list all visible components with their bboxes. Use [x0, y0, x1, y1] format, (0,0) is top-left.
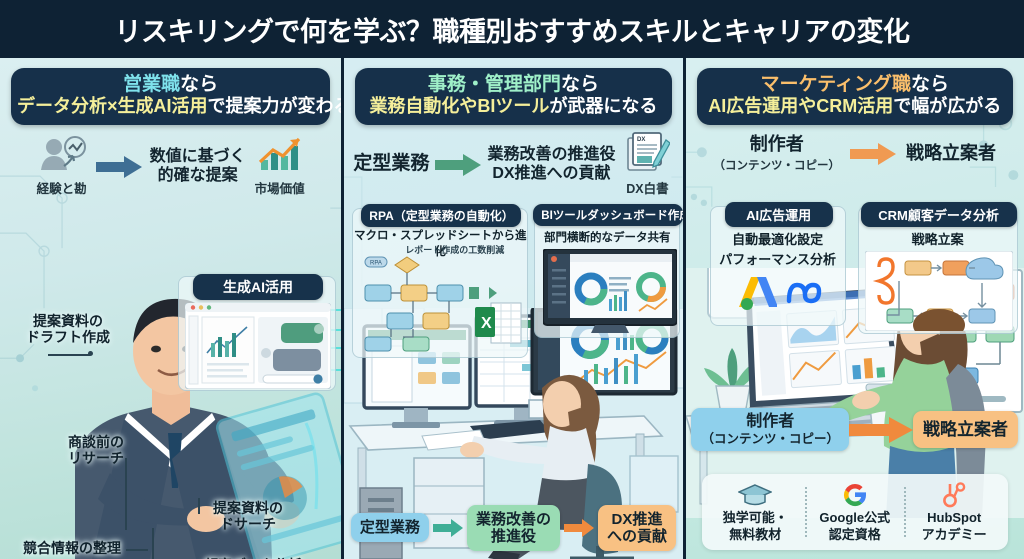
flow-row-marketing: 制作者 （コンテンツ・コピー） 戦略立案者: [686, 134, 1024, 173]
arrow-right-orange-wide-icon: [849, 417, 913, 443]
experience-intuition-group: 経験と勘: [36, 136, 88, 197]
card-ai-ads-sub2: パフォーマンス分析: [711, 249, 845, 268]
flow-row-admin: 定型業務 業務改善の推進役 DX推進への貢献 DX: [344, 132, 682, 197]
person-chart-icon: [37, 136, 87, 172]
panel-header-line1-accent: 事務・管理部門: [428, 74, 561, 95]
document-pen-icon: DX: [624, 132, 670, 172]
panel-marketing: マーケティング職なら AI広告運用やCRM活用で幅が広がる 制作者 （コンテンツ…: [683, 58, 1024, 559]
arrow-right-green-small-icon: [433, 519, 463, 537]
pill-strategy-planner: 戦略立案者: [913, 411, 1018, 449]
google-g-icon: [842, 482, 868, 508]
panel-header-line1: マーケティング職なら: [703, 74, 1007, 96]
crm-flow-icon: [865, 251, 1013, 331]
callout-proposal-material-line1: 提案資料の: [186, 501, 310, 517]
panel-header-marketing: マーケティング職なら AI広告運用やCRM活用で幅が広がる: [697, 68, 1013, 125]
market-value-group: 市場価値: [254, 136, 306, 197]
panels-container: 営業職なら データ分析×生成AI活用で提案力が変わる 経験と勘: [0, 58, 1024, 559]
pill-creator: 制作者 （コンテンツ・コピー）: [691, 408, 849, 451]
pill-dx-contribution-line2: への貢献: [607, 528, 667, 545]
panel-header-line1-rest: なら: [561, 74, 599, 95]
creator-line2: （コンテンツ・コピー）: [713, 157, 840, 173]
pill-improvement-driver-line2: 推進役: [476, 528, 551, 545]
panel-header-line1-rest: なら: [180, 74, 218, 95]
pill-routine-work: 定型業務: [351, 513, 429, 542]
arrow-right-blue-icon: [96, 156, 142, 178]
panel-header-line2: AI広告運用やCRM活用で幅が広がる: [703, 96, 1007, 118]
pill-improvement-driver: 業務改善の 推進役: [467, 505, 560, 552]
panel-header-line2: 業務自動化やBIツールが武器になる: [361, 96, 665, 118]
dx-whitepaper-group: DX DX白書: [621, 132, 673, 197]
routine-work-label: 定型業務: [353, 153, 429, 175]
graduation-cap-icon: [738, 483, 772, 507]
pill-flow-marketing: 制作者 （コンテンツ・コピー） 戦略立案者: [686, 408, 1024, 451]
callout-proposal-draft: 提案資料の ドラフト作成: [8, 314, 128, 345]
card-crm-sub1: 戦略立案: [859, 229, 1017, 248]
panel-header-sales: 営業職なら データ分析×生成AI活用で提案力が変わる: [11, 68, 330, 125]
panel-header-line1-rest: なら: [911, 74, 949, 95]
panel-header-admin: 事務・管理部門なら 業務自動化やBIツールが武器になる: [355, 68, 671, 125]
card-bi-dashboard-sub1: 部門横断的なデータ共有: [535, 229, 679, 245]
leader-line-customer-data-v: [152, 528, 154, 559]
panel-header-line1-accent: 営業職: [123, 74, 180, 95]
callout-proposal-material: 提案資料の ドサーチ: [186, 501, 310, 532]
creator-line1: 制作者: [713, 134, 840, 155]
svg-text:RPA: RPA: [370, 261, 382, 267]
arrow-right-orange-small-icon: [564, 519, 594, 537]
badge-self-study-line2: 無料教材: [706, 528, 805, 543]
svg-text:DX: DX: [637, 137, 645, 143]
meta-icon: [785, 279, 825, 307]
market-value-label: 市場価値: [254, 178, 306, 197]
page-title: リスキリングで何を学ぶ？職種別おすすめスキルとキャリアの変化: [115, 10, 910, 49]
badge-strip: 独学可能・ 無料教材 Google公式 認定資格: [702, 474, 1008, 550]
pill-flow-admin: 定型業務 業務改善の 推進役 DX推進 への貢献: [344, 505, 682, 552]
panel-header-line1: 営業職なら: [17, 74, 324, 96]
arrow-right-orange-icon: [850, 143, 896, 165]
badge-self-study-line1: 独学可能・: [706, 511, 805, 526]
leader-line-competitor-info: [126, 549, 148, 551]
leader-dot-proposal-draft: [88, 351, 93, 356]
pill-creator-line1: 制作者: [701, 413, 839, 431]
badge-hubspot-academy-line1: HubSpot: [904, 511, 1003, 526]
arrow-right-green-icon: [435, 154, 481, 176]
callout-proposal-draft-line2: ドラフト作成: [8, 330, 128, 346]
infographic-root: リスキリングで何を学ぶ？職種別おすすめスキルとキャリアの変化: [0, 0, 1024, 559]
panel-header-line2-rest: で幅が広がる: [893, 96, 1001, 116]
card-ai-ads-chip: AI広告運用: [725, 202, 833, 227]
card-rpa: RPA（定型業務の自動化） マクロ・スプレッドシートから進化 レポート作成の工数…: [352, 208, 528, 358]
badge-google-certified-line2: 認定資格: [805, 528, 904, 543]
badge-hubspot-academy: HubSpot アカデミー: [904, 481, 1003, 543]
badge-hubspot-academy-line2: アカデミー: [904, 528, 1003, 543]
card-generative-ai-chip: 生成AI活用: [193, 274, 323, 300]
svg-text:X: X: [481, 315, 492, 332]
dx-contribution-line1: 業務改善の推進役: [487, 146, 615, 165]
numeric-proposal-line2: 的確な提案: [150, 167, 246, 186]
creator-group: 制作者 （コンテンツ・コピー）: [713, 134, 840, 173]
numeric-proposal-line1: 数値に基づく: [150, 148, 246, 167]
flow-row-sales: 経験と勘 数値に基づく 的確な提案: [0, 136, 341, 197]
panel-sales: 営業職なら データ分析×生成AI活用で提案力が変わる 経験と勘: [0, 58, 341, 559]
panel-admin: 事務・管理部門なら 業務自動化やBIツールが武器になる 定型業務 業務改善の推進…: [341, 58, 682, 559]
dx-contribution-group: 業務改善の推進役 DX推進への貢献: [487, 146, 615, 184]
pill-creator-line2: （コンテンツ・コピー）: [701, 432, 839, 446]
pill-dx-contribution-line1: DX推進: [607, 511, 667, 528]
card-generative-ai: 生成AI活用: [178, 276, 336, 391]
callout-pre-meeting-research-line1: 商談前の: [36, 435, 156, 451]
panel-header-line2: データ分析×生成AI活用で提案力が変わる: [17, 96, 324, 118]
card-crm-chip: CRM顧客データ分析: [861, 202, 1017, 227]
ai-chat-dashboard-icon: [185, 303, 331, 389]
card-ai-ads-sub1: 自動最適化設定: [711, 229, 845, 248]
bi-dashboard-icon: [543, 249, 677, 333]
panel-header-line2-rest: で提案力が変わる: [208, 96, 342, 116]
google-ads-icon: [737, 273, 777, 313]
pill-improvement-driver-line1: 業務改善の: [476, 511, 551, 528]
dx-whitepaper-label: DX白書: [621, 178, 673, 197]
leader-line-proposal-draft: [48, 354, 90, 356]
badge-google-certified-line1: Google公式: [805, 511, 904, 526]
callout-proposal-draft-line1: 提案資料の: [8, 314, 128, 330]
leader-line-pre-meeting-research: [125, 458, 127, 530]
growth-bar-chart-icon: [255, 136, 305, 172]
numeric-proposal-group: 数値に基づく 的確な提案: [150, 148, 246, 186]
panel-header-line2-rest: が武器になる: [549, 96, 657, 116]
panel-header-line1-accent: マーケティング職: [760, 74, 910, 95]
panel-header-line2-accent: データ分析×生成AI活用: [17, 96, 208, 116]
panel-header-line2-accent: AI広告運用やCRM活用: [708, 96, 893, 116]
badge-self-study: 独学可能・ 無料教材: [706, 481, 805, 543]
experience-intuition-label: 経験と勘: [36, 178, 88, 197]
callout-competitor-info-line1: 競合情報の整理: [8, 541, 136, 557]
panel-header-line1: 事務・管理部門なら: [361, 74, 665, 96]
badge-google-certified: Google公式 認定資格: [805, 481, 904, 543]
pill-dx-contribution: DX推進 への貢献: [598, 505, 676, 552]
callout-pre-meeting-research: 商談前の リサーチ: [36, 435, 156, 466]
hubspot-sprocket-icon: [941, 482, 967, 508]
card-rpa-chip: RPA（定型業務の自動化）: [361, 204, 521, 227]
card-bi-dashboard: BIツールダッシュボード作成 部門横断的なデータ共有: [534, 208, 680, 338]
card-ai-ads: AI広告運用 自動最適化設定 パフォーマンス分析: [710, 206, 846, 326]
panel-header-line2-accent: 業務自動化やBIツール: [369, 96, 549, 116]
strategy-planner-label: 戦略立案者: [906, 143, 996, 164]
dx-contribution-line2: DX推進への貢献: [487, 165, 615, 184]
callout-competitor-info: 競合情報の整理: [8, 541, 136, 557]
card-crm: CRM顧客データ分析 戦略立案: [858, 206, 1018, 334]
infographic-title-bar: リスキリングで何を学ぶ？職種別おすすめスキルとキャリアの変化: [0, 0, 1024, 58]
rpa-flowchart-excel-icon: RPA: [359, 255, 523, 355]
callout-proposal-material-line2: ドサーチ: [186, 517, 310, 533]
callout-pre-meeting-research-line2: リサーチ: [36, 451, 156, 467]
leader-line-proposal-material: [198, 498, 200, 514]
card-bi-dashboard-chip: BIツールダッシュボード作成: [533, 204, 682, 226]
